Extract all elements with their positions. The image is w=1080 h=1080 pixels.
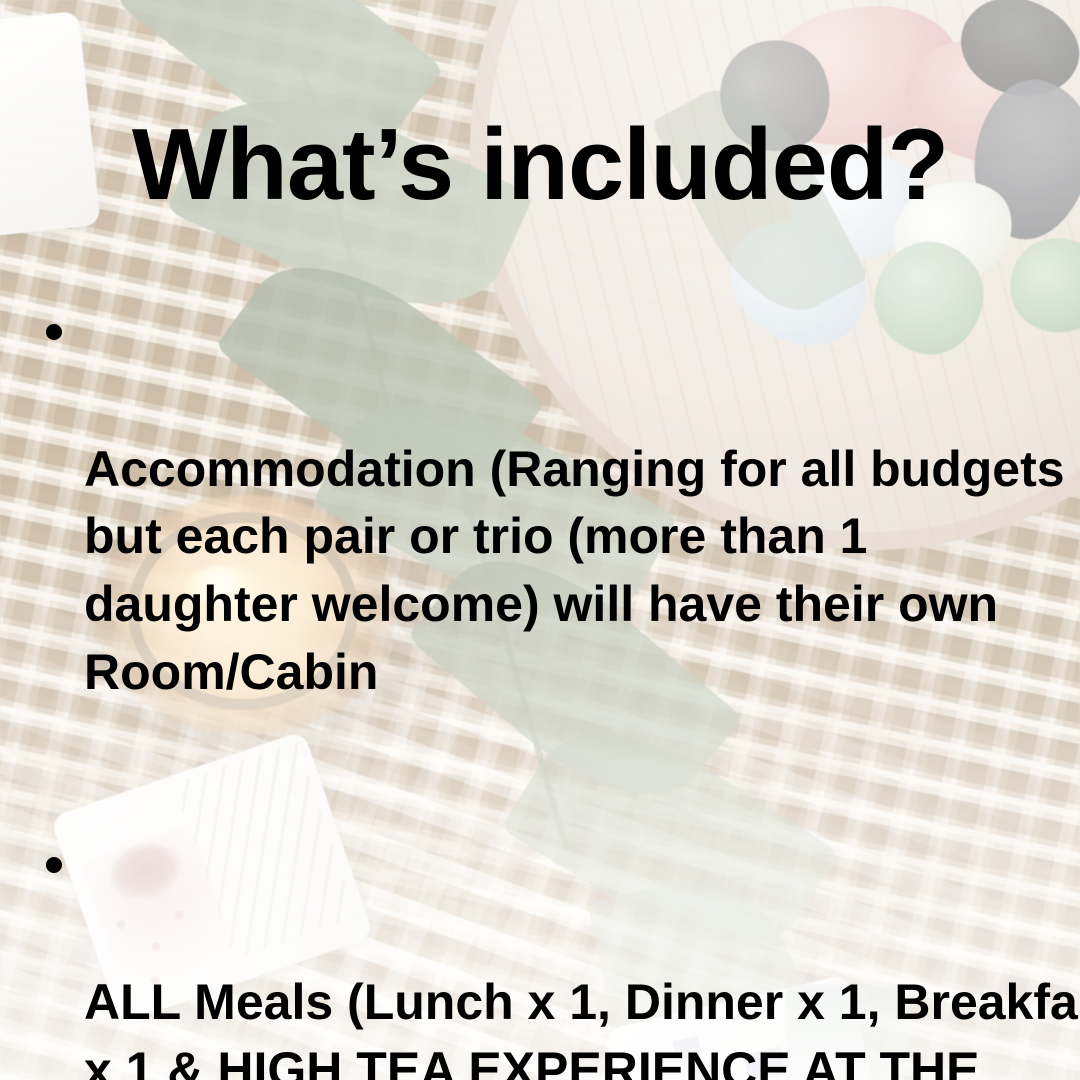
slide-title: What’s included?: [0, 112, 1080, 219]
slide-canvas: What’s included? Accommodation (Ranging …: [0, 0, 1080, 1080]
bullet-dot-icon: [46, 324, 62, 340]
list-item-label: Accommodation (Ranging for all budgets b…: [84, 436, 1080, 707]
slide-content: What’s included? Accommodation (Ranging …: [0, 0, 1080, 1080]
list-item: ALL Meals (Lunch x 1, Dinner x 1, Breakf…: [44, 833, 1080, 1080]
bullet-dot-icon: [46, 857, 62, 873]
list-item: Accommodation (Ranging for all budgets b…: [44, 300, 1080, 774]
list-item-label: ALL Meals (Lunch x 1, Dinner x 1, Breakf…: [84, 969, 1080, 1080]
included-items-list: Accommodation (Ranging for all budgets b…: [44, 300, 1080, 1080]
